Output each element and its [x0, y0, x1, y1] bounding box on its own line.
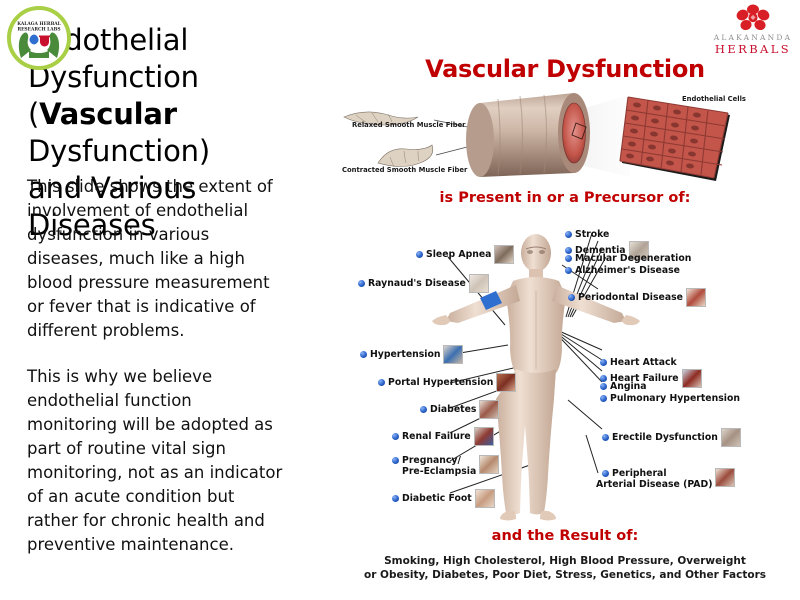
paragraph-2: This is why we believe endothelial funct… [27, 365, 287, 557]
condition-label-line2: Arterial Disease (PAD) [596, 479, 712, 490]
bullet-icon [392, 433, 399, 440]
bullet-icon [600, 383, 607, 390]
portal-hypertension-thumbnail [496, 373, 516, 392]
condition-label: Angina [610, 381, 647, 392]
hypertension-thumbnail [443, 345, 463, 364]
condition-label: Macular Degeneration [575, 253, 691, 264]
diagram-title: Vascular Dysfunction [330, 55, 800, 83]
bullet-icon [565, 231, 572, 238]
vascular-dysfunction-diagram: Vascular Dysfunction [330, 0, 800, 600]
diabetic-foot-thumbnail [475, 489, 495, 508]
diabetes-thumbnail [479, 400, 499, 419]
bullet-icon [358, 280, 365, 287]
paragraph-1: This slide shows the extent of involveme… [27, 175, 287, 343]
condition-renal-failure[interactable]: Renal Failure [392, 427, 494, 446]
result-heading: and the Result of: [330, 528, 800, 544]
condition-sleep-apnea[interactable]: Sleep Apnea [416, 245, 514, 264]
condition-label: Periodontal Disease [578, 292, 683, 303]
condition-erectile-dysfunction[interactable]: Erectile Dysfunction [602, 428, 741, 447]
condition-diabetic-foot[interactable]: Diabetic Foot [392, 489, 495, 508]
condition-label: Peripheral [612, 468, 667, 479]
bullet-icon [565, 255, 572, 262]
pad-thumbnail [715, 468, 735, 487]
bullet-icon [360, 351, 367, 358]
condition-pulmonary-hypertension[interactable]: Pulmonary Hypertension [600, 393, 740, 404]
bullet-icon [392, 495, 399, 502]
heart-failure-thumbnail [682, 369, 702, 388]
condition-periodontal-disease[interactable]: Periodontal Disease [568, 288, 706, 307]
relaxed-fiber-label: Relaxed Smooth Muscle Fiber [352, 121, 466, 129]
condition-label: Pregnancy/ [402, 455, 461, 466]
bullet-icon [568, 294, 575, 301]
risk-factors-line-1: Smoking, High Cholesterol, High Blood Pr… [330, 554, 800, 568]
bullet-icon [602, 470, 609, 477]
periodontal-thumbnail [686, 288, 706, 307]
vessel-tube [466, 93, 590, 177]
condition-angina[interactable]: Angina [600, 381, 647, 392]
svg-text:RESEARCH LABS: RESEARCH LABS [17, 28, 60, 33]
body-text-block: This slide shows the extent of involveme… [27, 175, 287, 579]
condition-diabetes[interactable]: Diabetes [420, 400, 499, 419]
bullet-icon [602, 434, 609, 441]
condition-label: Portal Hypertension [388, 377, 493, 388]
risk-factors-line-2: or Obesity, Diabetes, Poor Diet, Stress,… [330, 568, 800, 582]
kalaga-herbal-research-labs-logo: KALAGA HERBAL RESEARCH LABS [7, 6, 71, 70]
condition-hypertension[interactable]: Hypertension [360, 345, 463, 364]
sleep-apnea-thumbnail [494, 245, 514, 264]
condition-label: Diabetic Foot [402, 493, 472, 504]
bullet-icon [565, 267, 572, 274]
bullet-icon [600, 395, 607, 402]
precursor-heading: is Present in or a Precursor of: [330, 190, 800, 206]
condition-label: Stroke [575, 229, 609, 240]
condition-portal-hypertension[interactable]: Portal Hypertension [378, 373, 516, 392]
condition-label: Erectile Dysfunction [612, 432, 718, 443]
endothelial-cell-sheet [620, 97, 730, 181]
blood-vessel-illustration: Relaxed Smooth Muscle Fiber Contracted S… [330, 85, 800, 185]
svg-text:KALAGA HERBAL: KALAGA HERBAL [17, 22, 61, 27]
condition-label-wrap: Pregnancy/ Pre-Eclampsia [402, 455, 476, 477]
condition-heart-attack[interactable]: Heart Attack [600, 357, 677, 368]
left-text-column: Endothelial Dysfunction (Vascular Dysfun… [0, 0, 330, 600]
bullet-icon [416, 251, 423, 258]
erectile-dysfunction-thumbnail [721, 428, 741, 447]
condition-label-line2: Pre-Eclampsia [402, 466, 476, 477]
condition-macular-degeneration[interactable]: Macular Degeneration [565, 253, 691, 264]
bullet-icon [392, 457, 399, 464]
contracted-fiber-label: Contracted Smooth Muscle Fiber [342, 166, 467, 174]
condition-peripheral-arterial-disease[interactable]: Peripheral Arterial Disease (PAD) [602, 468, 735, 490]
condition-label: Sleep Apnea [426, 249, 491, 260]
condition-label: Alzheimer's Disease [575, 265, 680, 276]
condition-stroke[interactable]: Stroke [565, 229, 609, 240]
bullet-icon [378, 379, 385, 386]
renal-failure-thumbnail [474, 427, 494, 446]
pregnancy-thumbnail [479, 455, 499, 474]
title-line-3-paren: ( [28, 97, 39, 131]
title-line-4: Dysfunction) [28, 134, 210, 168]
condition-label: Renal Failure [402, 431, 471, 442]
condition-alzheimers-disease[interactable]: Alzheimer's Disease [565, 265, 680, 276]
contracted-smooth-muscle-fiber-art [378, 145, 433, 167]
raynauds-thumbnail [469, 274, 489, 293]
risk-factors-text: Smoking, High Cholesterol, High Blood Pr… [330, 554, 800, 582]
condition-label: Raynaud's Disease [368, 278, 466, 289]
condition-label-wrap: Peripheral Arterial Disease (PAD) [612, 468, 712, 490]
bullet-icon [420, 406, 427, 413]
condition-label: Pulmonary Hypertension [610, 393, 740, 404]
condition-label: Hypertension [370, 349, 440, 360]
condition-label: Heart Attack [610, 357, 677, 368]
title-line-3-bold: Vascular [39, 97, 177, 131]
bullet-icon [600, 359, 607, 366]
condition-pregnancy-preeclampsia[interactable]: Pregnancy/ Pre-Eclampsia [392, 455, 499, 477]
condition-label: Diabetes [430, 404, 476, 415]
condition-raynauds-disease[interactable]: Raynaud's Disease [358, 274, 489, 293]
endothelial-cells-label: Endothelial Cells [682, 95, 746, 103]
